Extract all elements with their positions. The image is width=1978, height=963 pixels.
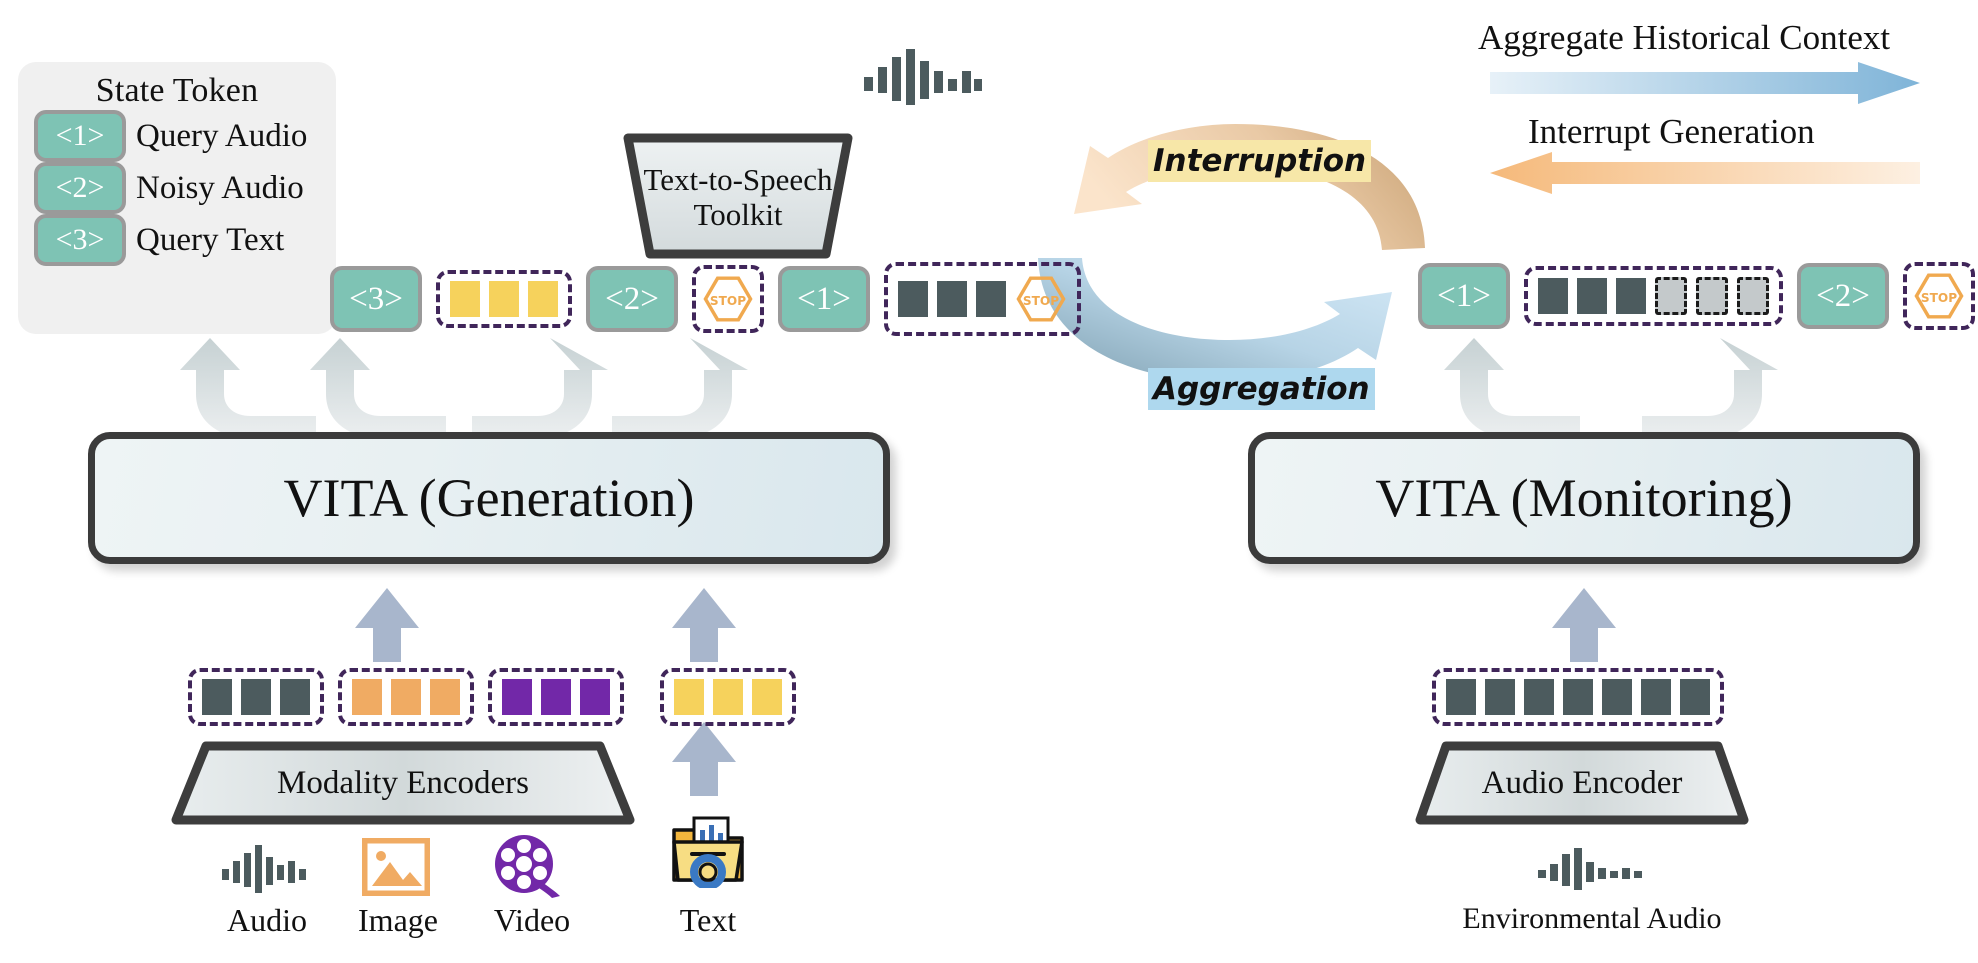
text-token-group-wrapper: [660, 668, 796, 726]
audio-waveform-icon: [1538, 848, 1646, 890]
token-square: [1524, 679, 1554, 715]
token-square: [1563, 679, 1593, 715]
aggregation-label: Aggregation: [1148, 368, 1375, 410]
token-square-ghost: [1737, 277, 1769, 315]
token-square: [937, 281, 967, 317]
token-square: [1446, 679, 1476, 715]
audio-waveform-icon: [862, 45, 982, 107]
text-icon-to-tokens-arrow: [672, 722, 736, 796]
interrupt-generation-arrow: [1490, 152, 1920, 194]
token-square: [241, 679, 271, 715]
generation-text-token-group: [436, 270, 572, 328]
text-to-vita-arrow: [672, 588, 736, 662]
token-square: [450, 281, 480, 317]
modality-input-label-video: Video: [452, 902, 612, 939]
modality-to-vita-arrow: [355, 588, 419, 662]
generation-state-token-1: <1>: [778, 266, 870, 332]
vita-monitoring-box: VITA (Monitoring): [1248, 432, 1920, 564]
generation-token-sequence: <3> <2> STOP <1> STOP: [330, 262, 1081, 336]
token-square: [1485, 679, 1515, 715]
audio-encoder-token-group: [1432, 668, 1724, 726]
token-square: [1641, 679, 1671, 715]
modality-encoder-token-groups: [188, 668, 624, 726]
image-picture-icon: [362, 838, 430, 896]
state-token-legend-title: State Token: [18, 72, 336, 110]
generation-state-token-2: <2>: [586, 266, 678, 332]
token-square: [1602, 679, 1632, 715]
generation-output-arrows: [150, 330, 910, 440]
token-square-ghost: [1696, 277, 1728, 315]
generation-stop-token-a: STOP: [692, 265, 764, 333]
stop-sign-icon: STOP: [1913, 270, 1965, 322]
token-square: [752, 679, 782, 715]
monitoring-audio-token-group: [1524, 266, 1783, 326]
audio-encoder-token-group-wrapper: [1432, 668, 1724, 726]
interrupt-generation-caption: Interrupt Generation: [1528, 112, 1815, 152]
legend-row-query-text: <3> Query Text: [34, 212, 334, 268]
token-square: [898, 281, 928, 317]
monitoring-output-arrows: [1430, 330, 1850, 440]
aggregation-arrow: [1038, 258, 1392, 382]
token-square: [391, 679, 421, 715]
text-token-group: [660, 668, 796, 726]
token-square: [1577, 278, 1607, 314]
token-square: [430, 679, 460, 715]
state-token-chip-1: <1>: [34, 110, 126, 162]
vita-monitoring-label: VITA (Monitoring): [1375, 467, 1792, 529]
diagram-canvas: State Token <1> Query Audio <2> Noisy Au…: [0, 0, 1978, 963]
token-square: [541, 679, 571, 715]
token-square: [280, 679, 310, 715]
token-square: [976, 281, 1006, 317]
token-square: [1616, 278, 1646, 314]
vita-generation-box: VITA (Generation): [88, 432, 890, 564]
generation-audio-token-group-with-stop: STOP: [884, 262, 1081, 336]
stop-sign-icon: STOP: [702, 273, 754, 325]
svg-text:STOP: STOP: [710, 294, 746, 308]
state-token-chip-2: <2>: [34, 162, 126, 214]
svg-text:STOP: STOP: [1921, 291, 1957, 305]
legend-row-noisy-audio: <2> Noisy Audio: [34, 160, 334, 216]
token-square: [674, 679, 704, 715]
legend-label-noisy-audio: Noisy Audio: [136, 170, 304, 207]
text-folder-icon: [670, 812, 746, 888]
monitoring-token-sequence: <1> <2> STOP: [1418, 262, 1975, 330]
legend-label-query-text: Query Text: [136, 222, 284, 259]
legend-row-query-audio: <1> Query Audio: [34, 108, 334, 164]
modality-image-token-group: [338, 668, 474, 726]
legend-label-query-audio: Query Audio: [136, 118, 307, 155]
environmental-audio-label: Environmental Audio: [1432, 902, 1752, 936]
token-square: [713, 679, 743, 715]
token-square: [1680, 679, 1710, 715]
monitoring-state-token-2: <2>: [1797, 263, 1889, 329]
interruption-label: Interruption: [1148, 140, 1371, 182]
stop-sign-icon: STOP: [1015, 273, 1067, 325]
monitoring-state-token-1: <1>: [1418, 263, 1510, 329]
modality-video-token-group: [488, 668, 624, 726]
token-square: [352, 679, 382, 715]
audio-waveform-icon: [222, 845, 310, 893]
modality-audio-token-group: [188, 668, 324, 726]
monitoring-stop-token: STOP: [1903, 262, 1975, 330]
token-square-ghost: [1655, 277, 1687, 315]
text-input-label: Text: [648, 902, 768, 939]
text-to-speech-toolkit-shape: [618, 128, 858, 268]
audio-encoder-shape: [1412, 738, 1752, 828]
film-reel-icon: [492, 834, 562, 898]
audio-encoder-to-vita-arrow: [1552, 588, 1616, 662]
generation-state-token-3: <3>: [330, 266, 422, 332]
token-square: [528, 281, 558, 317]
vita-generation-label: VITA (Generation): [283, 467, 694, 529]
token-square: [580, 679, 610, 715]
token-square: [489, 281, 519, 317]
svg-text:STOP: STOP: [1023, 294, 1059, 308]
token-square: [202, 679, 232, 715]
aggregate-historical-context-caption: Aggregate Historical Context: [1478, 18, 1890, 58]
modality-encoders-shape: [168, 738, 638, 828]
aggregate-historical-context-arrow: [1490, 62, 1920, 104]
token-square: [1538, 278, 1568, 314]
token-square: [502, 679, 532, 715]
state-token-chip-3: <3>: [34, 214, 126, 266]
